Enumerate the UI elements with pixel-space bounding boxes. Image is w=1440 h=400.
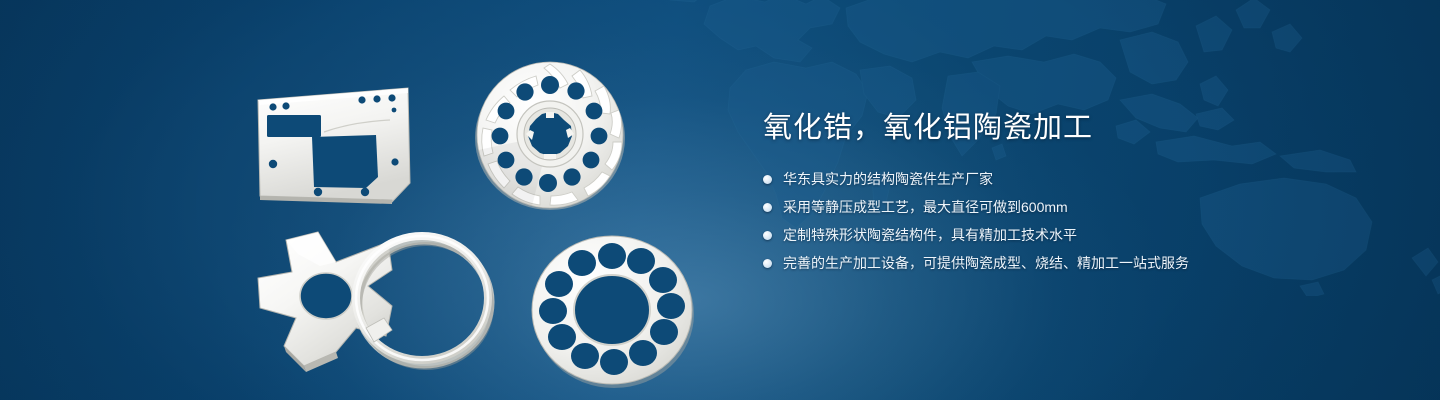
- feature-list: 华东具实力的结构陶瓷件生产厂家 采用等静压成型工艺，最大直径可做到600mm 定…: [763, 169, 1383, 274]
- bullet-dot-icon: [763, 175, 772, 184]
- list-item: 采用等静压成型工艺，最大直径可做到600mm: [763, 197, 1383, 218]
- page-title: 氧化锆，氧化铝陶瓷加工: [763, 108, 1383, 148]
- list-item-label: 华东具实力的结构陶瓷件生产厂家: [783, 169, 993, 190]
- ceramic-perforated-disc-photo: [532, 236, 694, 388]
- bullet-dot-icon: [763, 203, 772, 212]
- hero-banner: 氧化锆，氧化铝陶瓷加工 华东具实力的结构陶瓷件生产厂家 采用等静压成型工艺，最大…: [0, 0, 1440, 400]
- product-photo-group: [240, 40, 720, 380]
- list-item-label: 定制特殊形状陶瓷结构件，具有精加工技术水平: [783, 225, 1077, 246]
- bullet-dot-icon: [763, 231, 772, 240]
- list-item-label: 完善的生产加工设备，可提供陶瓷成型、烧结、精加工一站式服务: [783, 253, 1189, 274]
- hero-text-block: 氧化锆，氧化铝陶瓷加工 华东具实力的结构陶瓷件生产厂家 采用等静压成型工艺，最大…: [763, 108, 1383, 290]
- list-item-label: 采用等静压成型工艺，最大直径可做到600mm: [783, 197, 1068, 218]
- ceramic-impeller-photo: [475, 62, 625, 210]
- bullet-dot-icon: [763, 259, 772, 268]
- ceramic-plate-photo: [258, 88, 410, 204]
- list-item: 完善的生产加工设备，可提供陶瓷成型、烧结、精加工一站式服务: [763, 253, 1383, 274]
- list-item: 定制特殊形状陶瓷结构件，具有精加工技术水平: [763, 225, 1383, 246]
- list-item: 华东具实力的结构陶瓷件生产厂家: [763, 169, 1383, 190]
